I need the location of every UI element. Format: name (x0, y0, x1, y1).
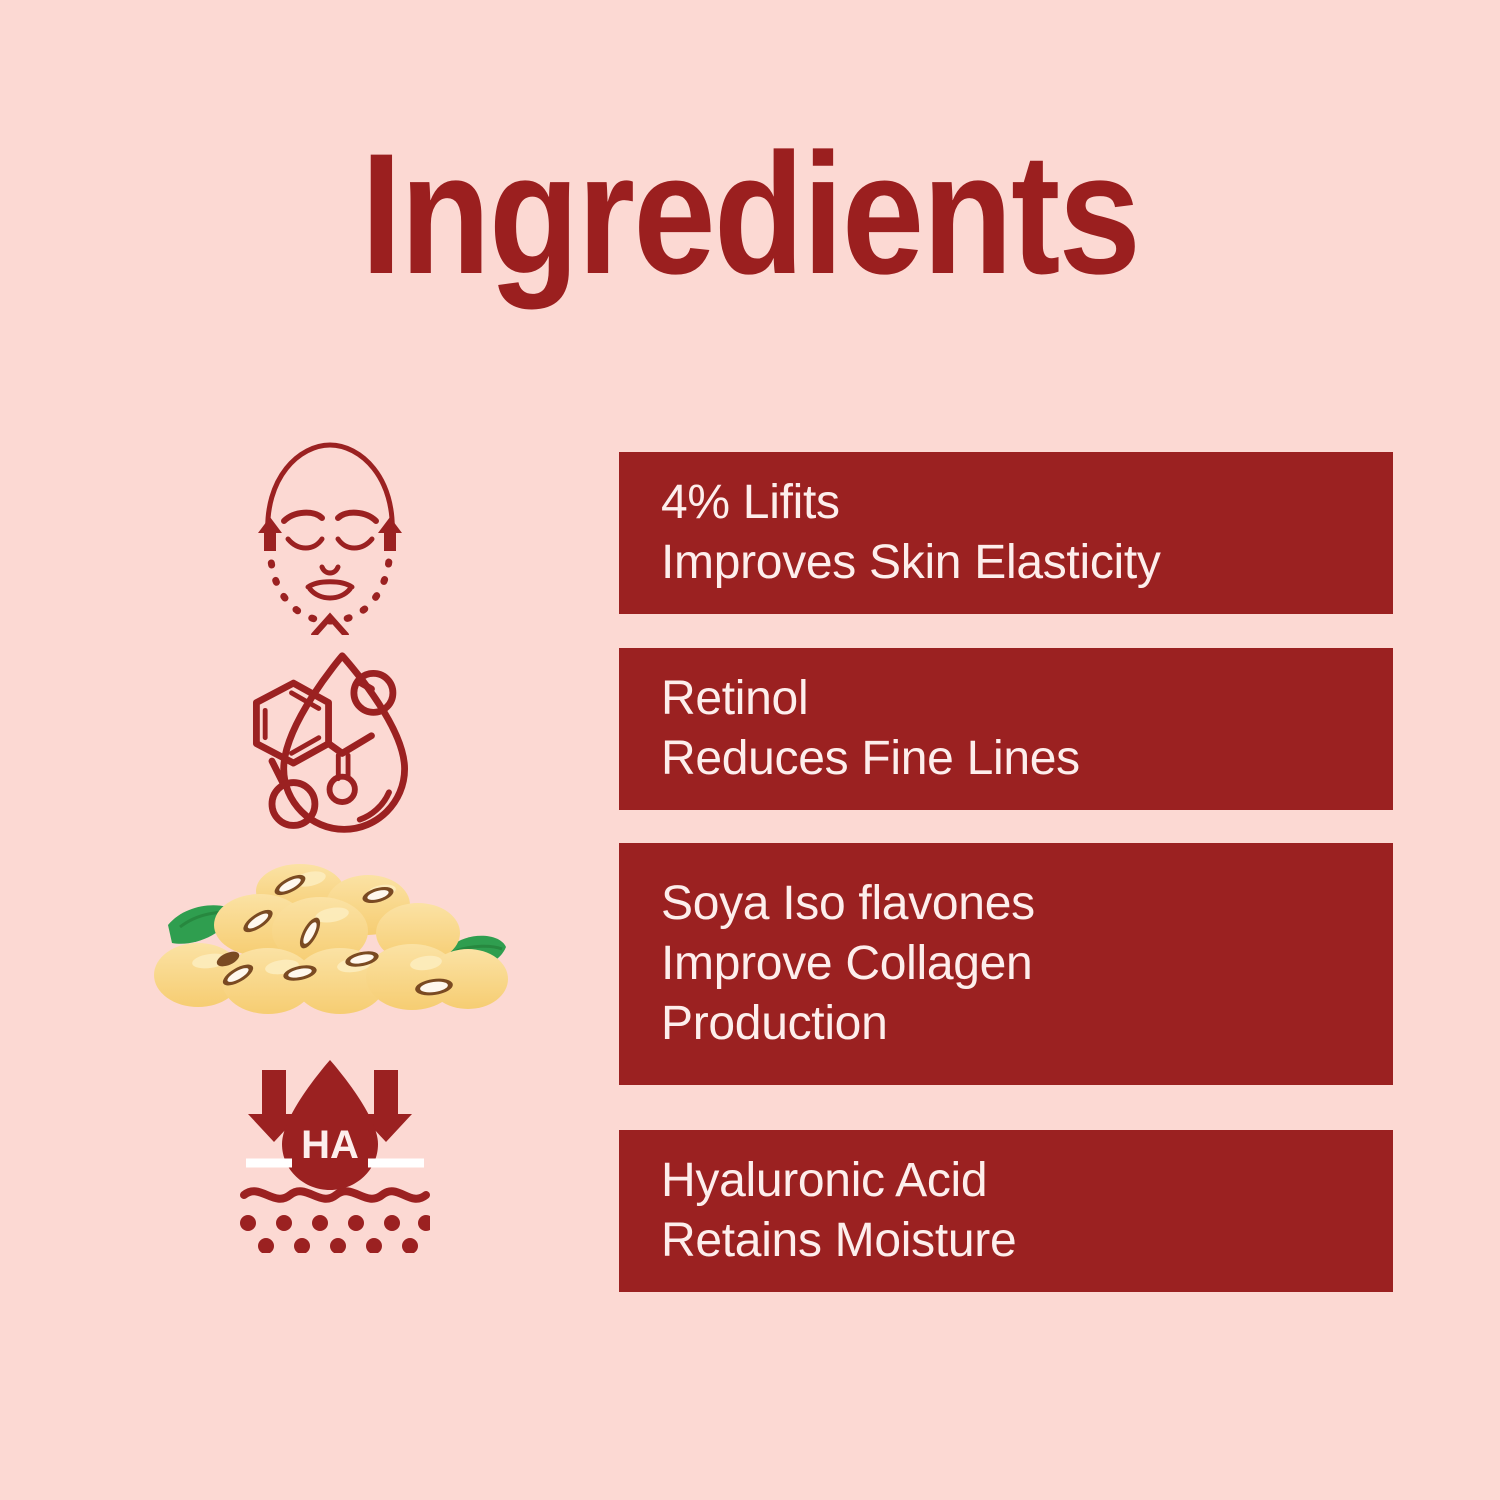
ingredient-benefit-3: Improve Collagen (661, 934, 1393, 994)
ingredient-name-1: 4% Lifits (661, 473, 1393, 533)
icon-slot-hyaluronic-acid: HA (120, 1055, 540, 1255)
icon-slot-soybeans (120, 855, 540, 1045)
arrow-up-icon (258, 517, 402, 551)
hyaluronic-acid-skin-icon: HA (230, 1058, 430, 1253)
ingredient-bar-1: 4% Lifits Improves Skin Elasticity (619, 452, 1393, 614)
ingredient-name-3: Soya Iso flavones (661, 874, 1393, 934)
retinol-molecule-droplet-icon (233, 648, 428, 843)
ingredient-benefit-3-line2: Production (661, 994, 1393, 1054)
ingredient-benefit-4: Retains Moisture (661, 1211, 1393, 1271)
skin-dots (240, 1215, 430, 1253)
page-title: Ingredients (105, 128, 1395, 300)
skin-wave-line (244, 1191, 426, 1199)
icon-slot-retinol-molecule (120, 645, 540, 845)
ingredient-bar-4: Hyaluronic Acid Retains Moisture (619, 1130, 1393, 1292)
icon-slot-face-lift (120, 430, 540, 630)
ingredient-name-4: Hyaluronic Acid (661, 1151, 1393, 1211)
oxygen-circle (329, 776, 354, 801)
ingredient-name-2: Retinol (661, 669, 1393, 729)
soybeans-icon (150, 863, 510, 1038)
ha-droplet-label: HA (301, 1123, 359, 1167)
ingredient-bar-3: Soya Iso flavones Improve Collagen Produ… (619, 843, 1393, 1085)
ingredient-benefit-2: Reduces Fine Lines (661, 729, 1393, 789)
ha-droplet: HA (282, 1060, 378, 1190)
ingredient-bar-2: Retinol Reduces Fine Lines (619, 648, 1393, 810)
face-lift-icon (230, 425, 430, 635)
ingredient-benefit-1: Improves Skin Elasticity (661, 533, 1393, 593)
ingredients-infographic: Ingredients (0, 0, 1500, 1500)
